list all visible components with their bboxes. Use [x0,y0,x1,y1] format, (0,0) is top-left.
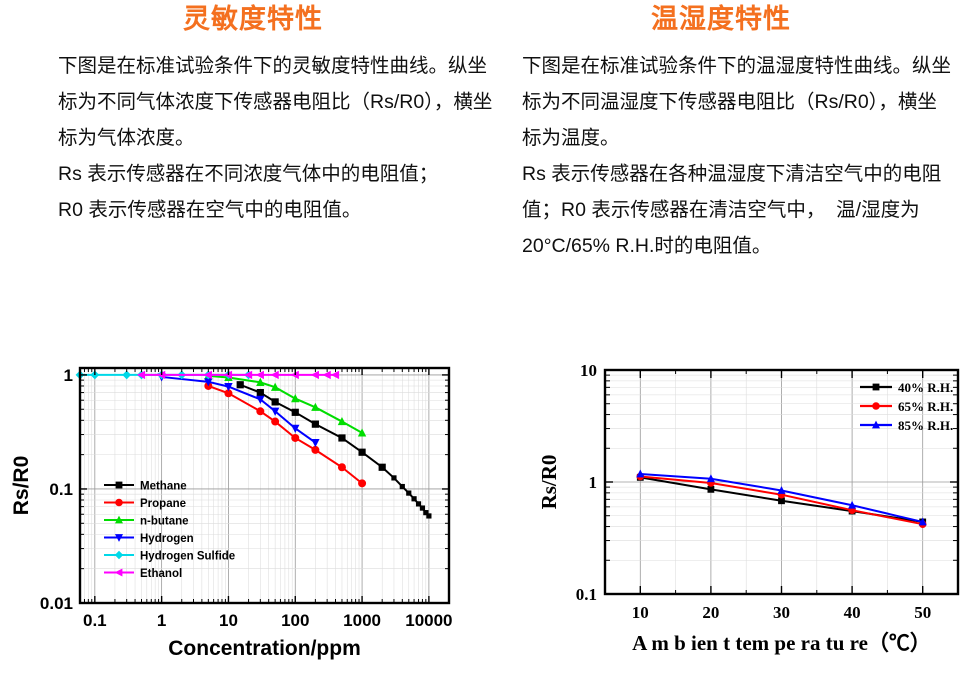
data-point-marker [872,402,880,410]
svg-text:1: 1 [589,473,598,492]
svg-text:10000: 10000 [405,611,452,630]
y-axis-title: Rs/R0 [537,455,561,510]
data-point-marker [291,434,299,442]
svg-text:100: 100 [281,611,309,630]
data-point-marker [292,409,299,416]
x-axis-title: A m b ien t tem pe ra tu re（℃） [632,631,931,655]
x-axis-title: Concentration/ppm [168,637,361,660]
svg-text:Rs/R0: Rs/R0 [10,456,33,516]
data-point-marker [115,569,123,577]
svg-text:Hydrogen Sulfide: Hydrogen Sulfide [140,551,235,563]
data-point-marker [338,434,345,441]
svg-text:40: 40 [844,603,861,622]
svg-text:0.1: 0.1 [49,480,73,499]
data-point-marker [115,499,123,507]
svg-text:10: 10 [580,361,597,380]
svg-text:A m b ien t tem pe ra tu re（℃）: A m b ien t tem pe ra tu re（℃） [632,631,931,655]
x-tick-labels: 1020304050 [632,603,931,622]
data-point-marker [420,505,425,510]
data-point-marker [115,551,123,559]
svg-text:1: 1 [157,611,166,630]
svg-text:30: 30 [773,603,790,622]
left-section-title: 灵敏度特性 [0,2,490,36]
svg-text:n-butane: n-butane [140,516,189,528]
svg-text:Methane: Methane [140,481,187,493]
data-point-marker [272,398,279,405]
data-point-marker [391,475,396,480]
y-tick-labels: 0.010.11 [40,366,73,613]
data-point-marker [311,439,319,447]
y-axis-title: Rs/R0 [10,456,33,516]
sensitivity-chart: 0.11101001000100000.010.11Concentration/… [0,330,490,687]
data-point-marker [358,449,365,456]
temperature-humidity-chart: 10203040500.1110A m b ien t tem pe ra tu… [520,330,976,687]
svg-text:20: 20 [702,603,719,622]
svg-text:0.1: 0.1 [83,611,107,630]
data-point-marker [708,486,715,493]
data-point-marker [338,463,346,471]
x-tick-labels: 0.1110100100010000 [83,611,453,630]
data-point-marker [116,482,123,489]
data-point-marker [312,421,319,428]
svg-text:Propane: Propane [140,498,186,510]
svg-text:40% R.H.: 40% R.H. [898,380,953,395]
svg-text:1000: 1000 [343,611,381,630]
svg-text:Ethanol: Ethanol [140,568,182,580]
svg-text:Concentration/ppm: Concentration/ppm [168,637,361,660]
svg-text:Hydrogen: Hydrogen [140,533,194,545]
data-point-marker [237,381,244,388]
y-tick-labels: 0.1110 [576,361,597,604]
svg-text:Rs/R0: Rs/R0 [537,455,561,510]
data-point-marker [379,464,386,471]
svg-text:0.1: 0.1 [576,585,597,604]
data-point-marker [411,496,416,501]
data-point-marker [406,490,411,495]
data-point-marker [873,384,880,391]
data-point-marker [271,418,279,426]
chart-legend: 40% R.H.65% R.H.85% R.H. [860,380,953,433]
svg-text:10: 10 [632,603,649,622]
svg-text:65% R.H.: 65% R.H. [898,399,953,414]
svg-text:0.01: 0.01 [40,594,73,613]
data-point-marker [358,479,366,487]
data-point-marker [257,389,264,396]
svg-text:85% R.H.: 85% R.H. [898,418,953,433]
svg-text:50: 50 [914,603,931,622]
right-section-title: 温湿度特性 [490,2,976,36]
data-point-marker [426,513,431,518]
right-description-text: 下图是在标准试验条件下的温湿度特性曲线。纵坐标为不同温湿度下传感器电阻比（Rs/… [522,48,952,264]
data-point-marker [400,484,405,489]
svg-text:10: 10 [219,611,238,630]
chart-legend: MethanePropanen-butaneHydrogenHydrogen S… [104,481,235,581]
data-point-marker [256,407,264,415]
svg-text:1: 1 [64,366,73,385]
left-description-text: 下图是在标准试验条件下的灵敏度特性曲线。纵坐标为不同气体浓度下传感器电阻比（Rs… [58,48,498,228]
